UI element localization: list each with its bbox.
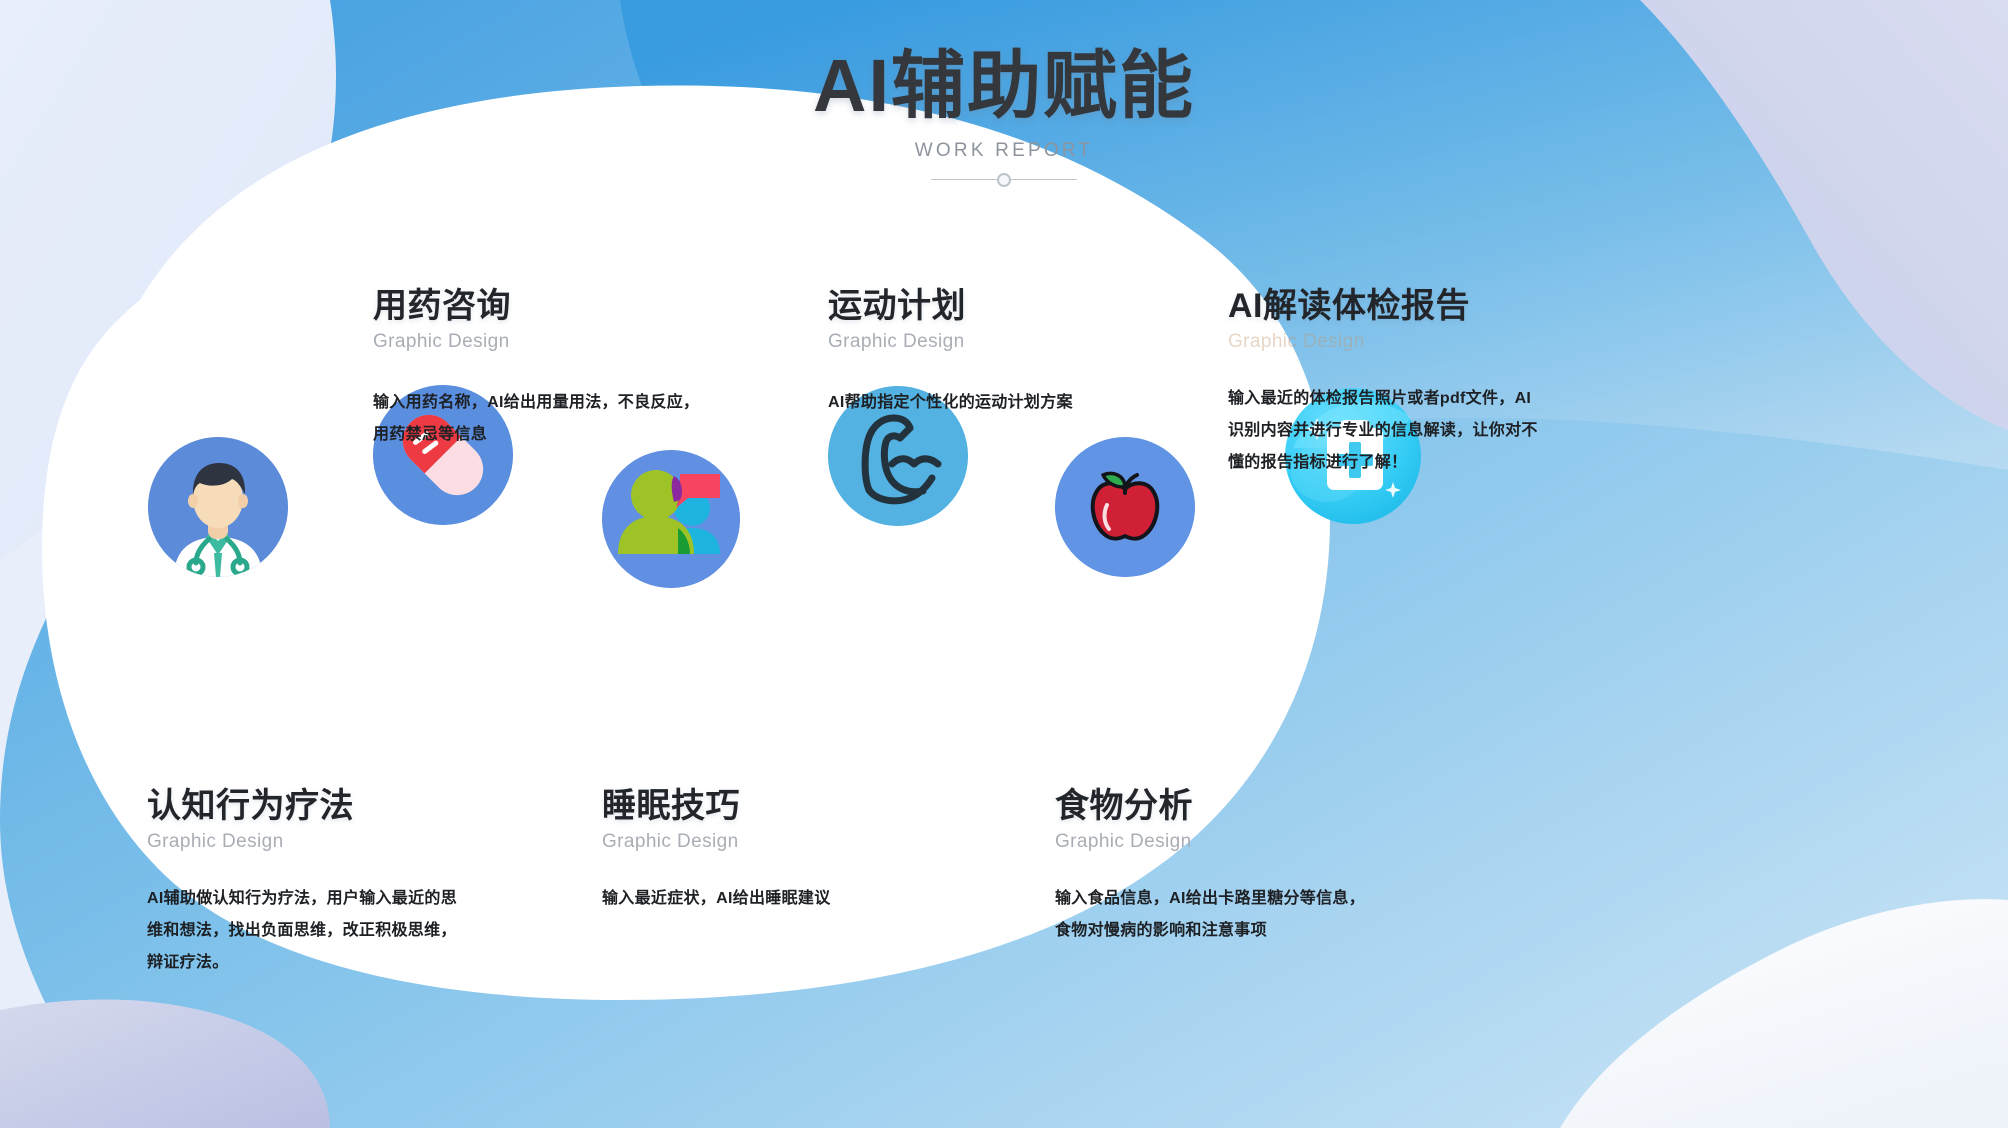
two-people-chat-icon	[602, 450, 740, 588]
block-subtitle: Graphic Design	[1228, 330, 1558, 355]
slide-header: AI辅助赋能 WORK REPORT	[0, 46, 2008, 187]
block-subtitle: Graphic Design	[147, 830, 487, 855]
desc-line: 维和想法，找出负面思维，改正积极思维，	[147, 915, 487, 947]
doctor-avatar-glyph	[148, 437, 288, 577]
desc-line: 输入最近症状，AI给出睡眠建议	[602, 883, 922, 915]
desc-line: AI帮助指定个性化的运动计划方案	[828, 387, 1148, 419]
desc-line: 懂的报告指标进行了解！	[1228, 447, 1558, 479]
page-subtitle: WORK REPORT	[0, 140, 2008, 162]
desc-line: AI辅助做认知行为疗法，用户输入最近的思	[147, 883, 487, 915]
block-subtitle: Graphic Design	[602, 830, 922, 855]
block-title: AI解读体检报告	[1228, 286, 1558, 326]
page-title: AI辅助赋能	[0, 46, 2008, 126]
presentation-slide: AI辅助赋能 WORK REPORT 用药咨询 Graphic Design 输…	[0, 0, 2008, 1128]
doctor-avatar-icon	[148, 437, 288, 577]
desc-line: 食物对慢病的影响和注意事项	[1055, 915, 1395, 947]
block-description: 输入最近症状，AI给出睡眠建议	[602, 883, 922, 915]
desc-line: 用药禁忌等信息	[373, 419, 703, 451]
block-description: AI辅助做认知行为疗法，用户输入最近的思 维和想法，找出负面思维，改正积极思维，…	[147, 883, 487, 979]
block-title: 食物分析	[1055, 786, 1395, 826]
feature-block-food: 食物分析 Graphic Design 输入食品信息，AI给出卡路里糖分等信息，…	[1055, 786, 1395, 947]
feature-block-sleep: 睡眠技巧 Graphic Design 输入最近症状，AI给出睡眠建议	[602, 786, 922, 915]
desc-line: 输入最近的体检报告照片或者pdf文件，AI	[1228, 383, 1558, 415]
block-description: 输入最近的体检报告照片或者pdf文件，AI 识别内容并进行专业的信息解读，让你对…	[1228, 383, 1558, 479]
block-title: 运动计划	[828, 286, 1148, 326]
feature-block-medication: 用药咨询 Graphic Design 输入用药名称，AI给出用量用法，不良反应…	[373, 286, 703, 451]
block-description: AI帮助指定个性化的运动计划方案	[828, 387, 1148, 419]
two-people-chat-glyph	[602, 450, 740, 588]
title-divider	[931, 173, 1077, 187]
block-title: 认知行为疗法	[147, 786, 487, 826]
block-subtitle: Graphic Design	[1055, 830, 1395, 855]
desc-line: 输入用药名称，AI给出用量用法，不良反应，	[373, 387, 703, 419]
red-apple-icon	[1055, 437, 1195, 577]
red-apple-glyph	[1055, 437, 1195, 577]
block-description: 输入用药名称，AI给出用量用法，不良反应， 用药禁忌等信息	[373, 387, 703, 451]
desc-line: 输入食品信息，AI给出卡路里糖分等信息，	[1055, 883, 1395, 915]
desc-line: 辩证疗法。	[147, 947, 487, 979]
desc-line: 识别内容并进行专业的信息解读，让你对不	[1228, 415, 1558, 447]
block-subtitle: Graphic Design	[828, 330, 1148, 355]
feature-block-cbt: 认知行为疗法 Graphic Design AI辅助做认知行为疗法，用户输入最近…	[147, 786, 487, 979]
block-title: 用药咨询	[373, 286, 703, 326]
feature-block-exercise: 运动计划 Graphic Design AI帮助指定个性化的运动计划方案	[828, 286, 1148, 419]
feature-block-report: AI解读体检报告 Graphic Design 输入最近的体检报告照片或者pdf…	[1228, 286, 1558, 479]
block-description: 输入食品信息，AI给出卡路里糖分等信息， 食物对慢病的影响和注意事项	[1055, 883, 1395, 947]
block-subtitle: Graphic Design	[373, 330, 703, 355]
block-title: 睡眠技巧	[602, 786, 922, 826]
divider-knob	[997, 173, 1011, 187]
